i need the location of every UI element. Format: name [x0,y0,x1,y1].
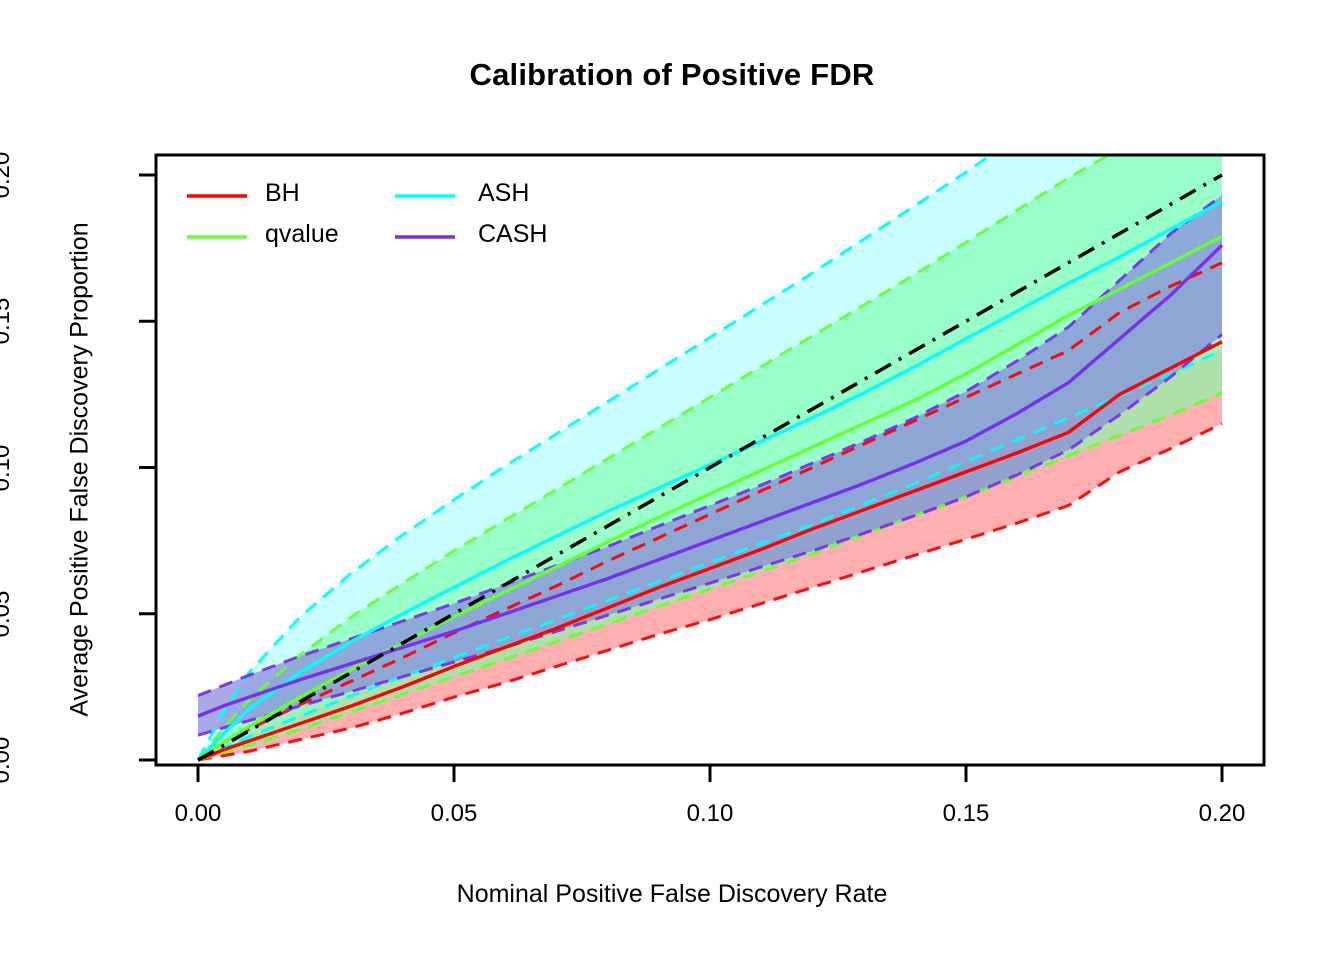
y-tick-label: 0.05 [0,554,16,674]
x-tick-label: 0.00 [138,800,258,828]
chart-canvas: Calibration of Positive FDR Nominal Posi… [0,0,1344,960]
x-tick-label: 0.10 [650,800,770,828]
legend-item-cash: CASH [478,220,547,249]
x-tick-label: 0.15 [906,800,1026,828]
legend-item-ash: ASH [478,179,529,208]
legend-item-qvalue: qvalue [265,220,339,249]
x-tick-label: 0.20 [1162,800,1282,828]
confidence-bands [198,0,1222,760]
legend-item-bh: BH [265,179,300,208]
y-tick-label: 0.20 [0,115,16,235]
y-tick-label: 0.00 [0,700,16,820]
y-tick-label: 0.10 [0,408,16,528]
y-tick-label: 0.15 [0,261,16,381]
x-tick-label: 0.05 [394,800,514,828]
